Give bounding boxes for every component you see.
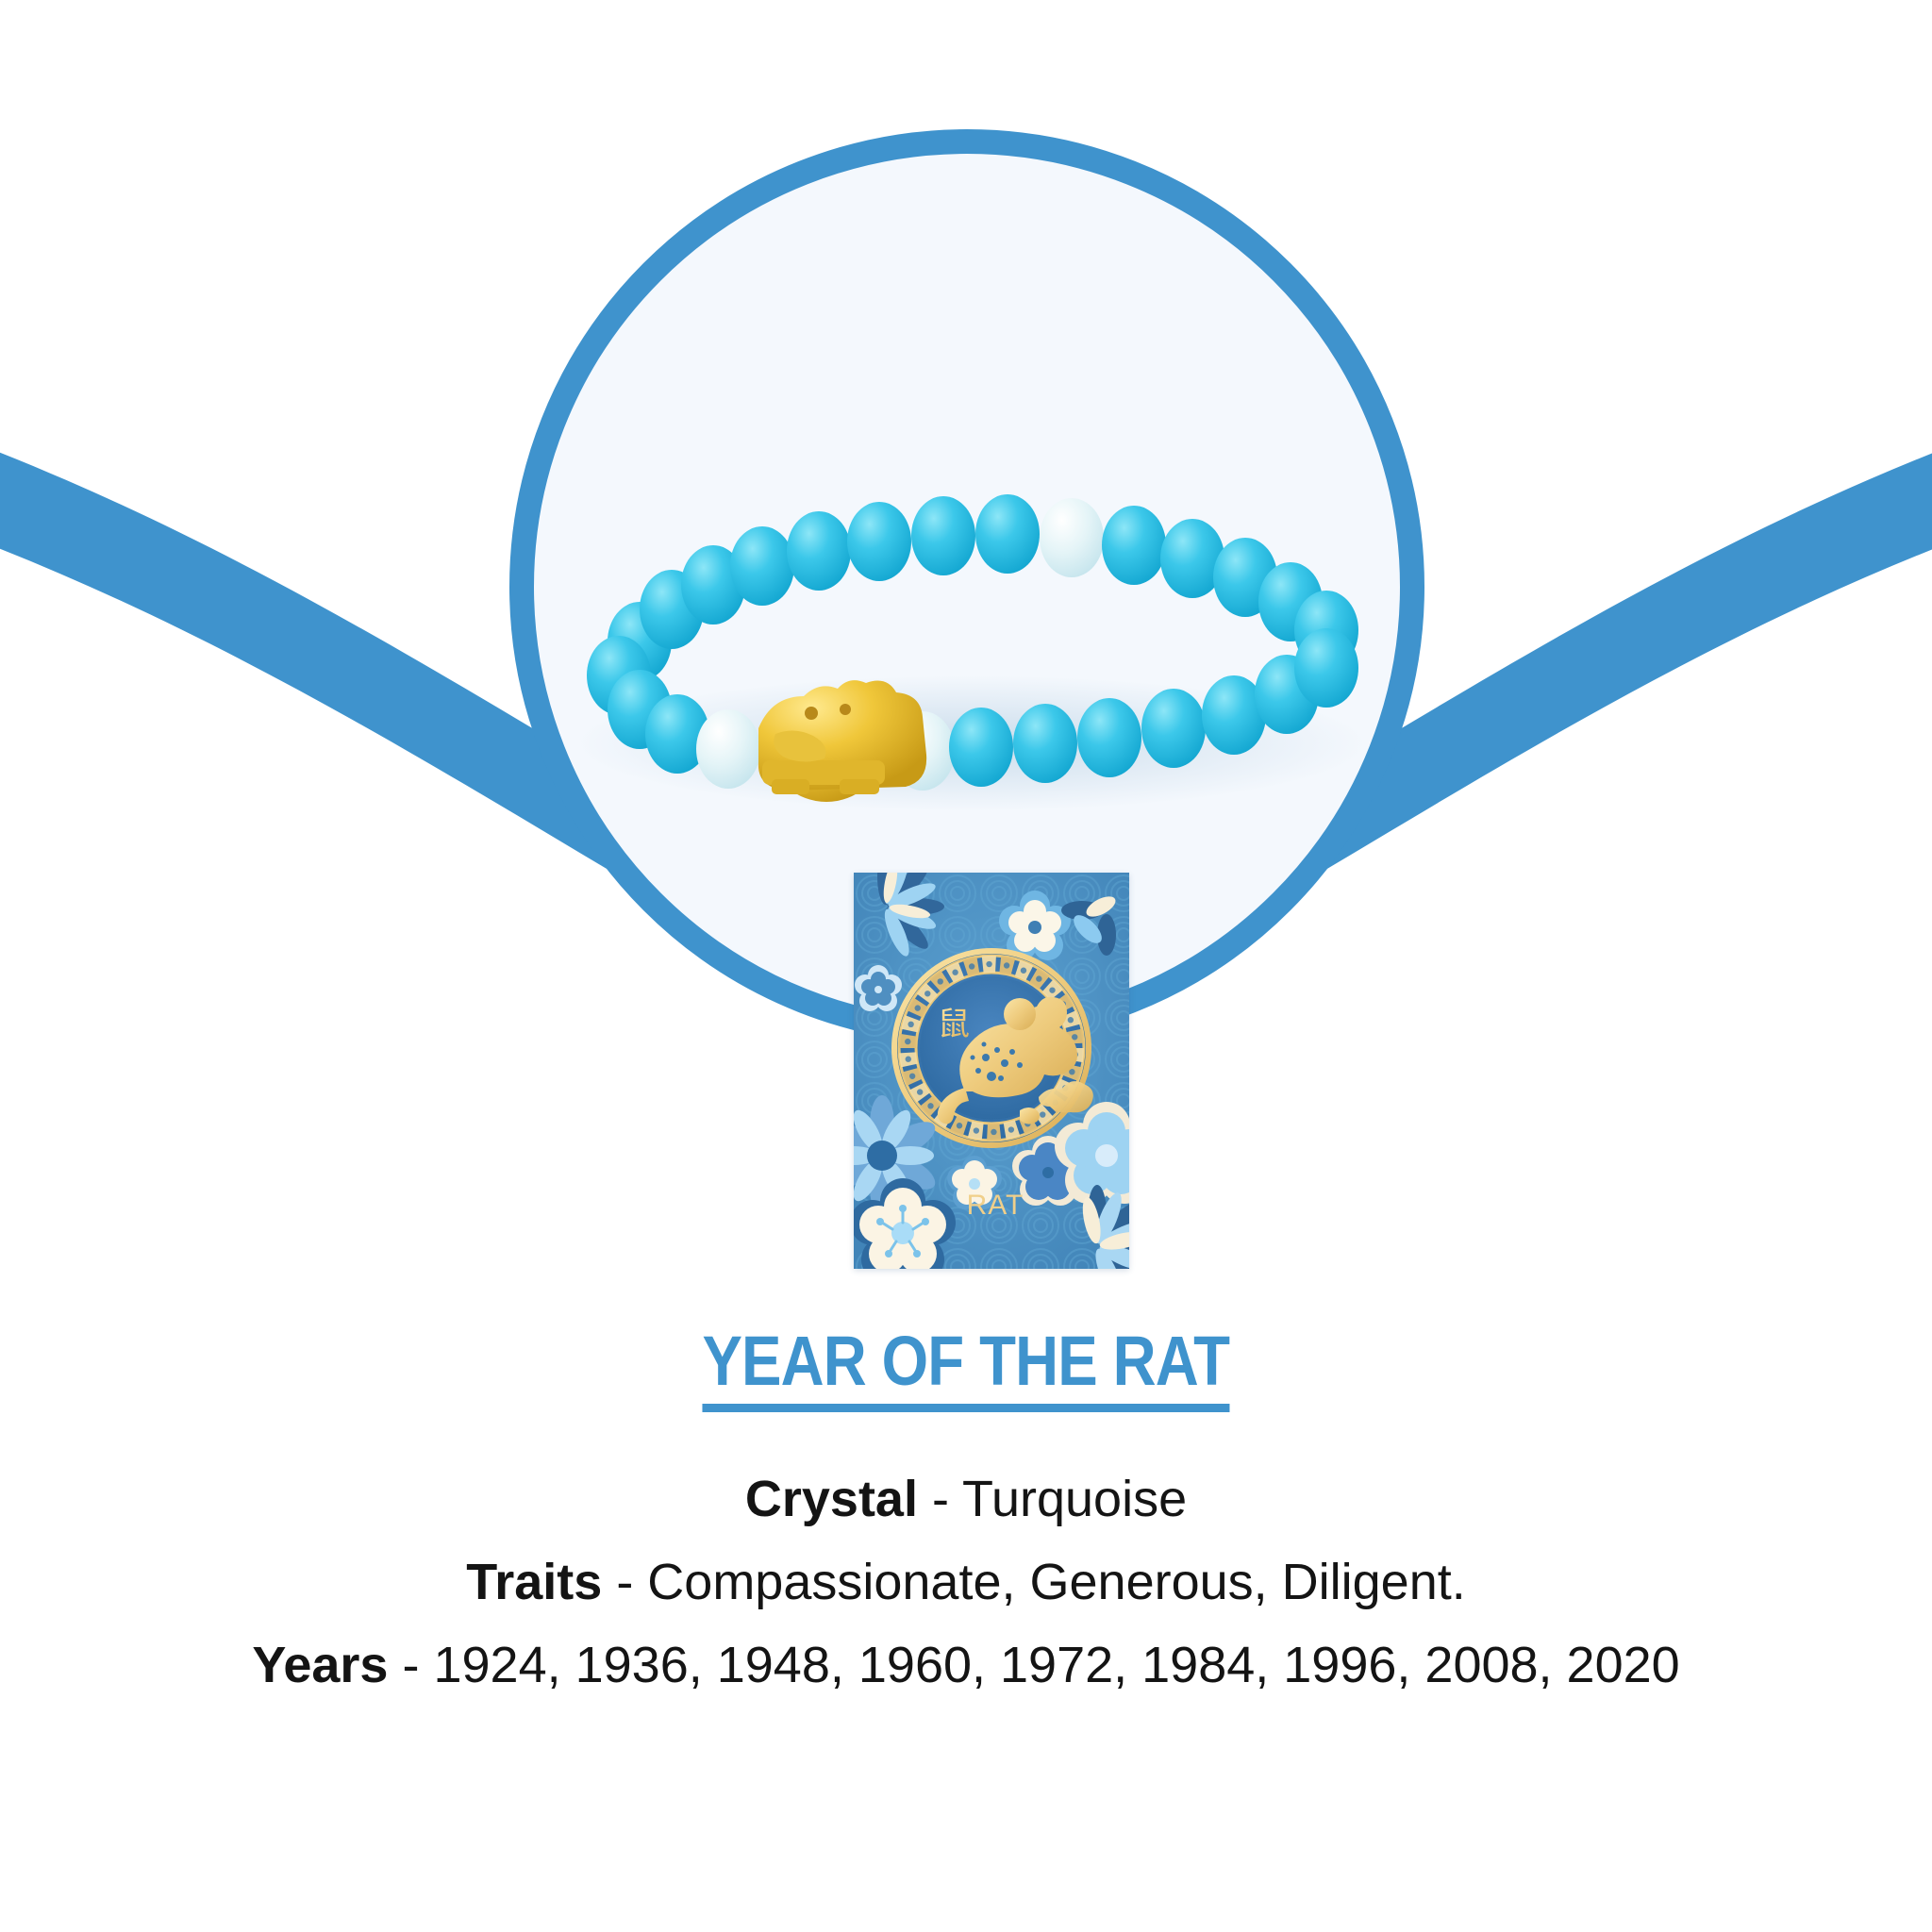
page-title-wrap: YEAR OF THE RAT — [0, 1325, 1932, 1412]
detail-label-crystal: Crystal — [745, 1471, 918, 1527]
turquoise-pixiu-bracelet-photo — [528, 491, 1406, 821]
detail-value-traits: - Compassionate, Generous, Diligent. — [616, 1554, 1465, 1610]
rat-zodiac-card: 鼠 — [854, 873, 1129, 1269]
detail-line-crystal: Crystal - Turquoise — [0, 1457, 1932, 1541]
page-title: YEAR OF THE RAT — [703, 1325, 1230, 1412]
zodiac-details: Crystal - Turquoise Traits - Compassiona… — [0, 1457, 1932, 1707]
detail-value-crystal: - Turquoise — [932, 1471, 1187, 1527]
detail-label-traits: Traits — [466, 1554, 602, 1610]
zodiac-chinese-character: 鼠 — [938, 1006, 970, 1043]
zodiac-animal-label: RAT — [967, 1190, 1024, 1221]
detail-label-years: Years — [252, 1637, 388, 1693]
detail-line-years: Years - 1924, 1936, 1948, 1960, 1972, 19… — [174, 1624, 1758, 1707]
infographic-canvas: 鼠 — [0, 0, 1932, 1932]
detail-line-traits: Traits - Compassionate, Generous, Dilige… — [0, 1541, 1932, 1624]
product-image-container — [528, 491, 1406, 821]
detail-value-years: - 1924, 1936, 1948, 1960, 1972, 1984, 19… — [402, 1637, 1679, 1693]
